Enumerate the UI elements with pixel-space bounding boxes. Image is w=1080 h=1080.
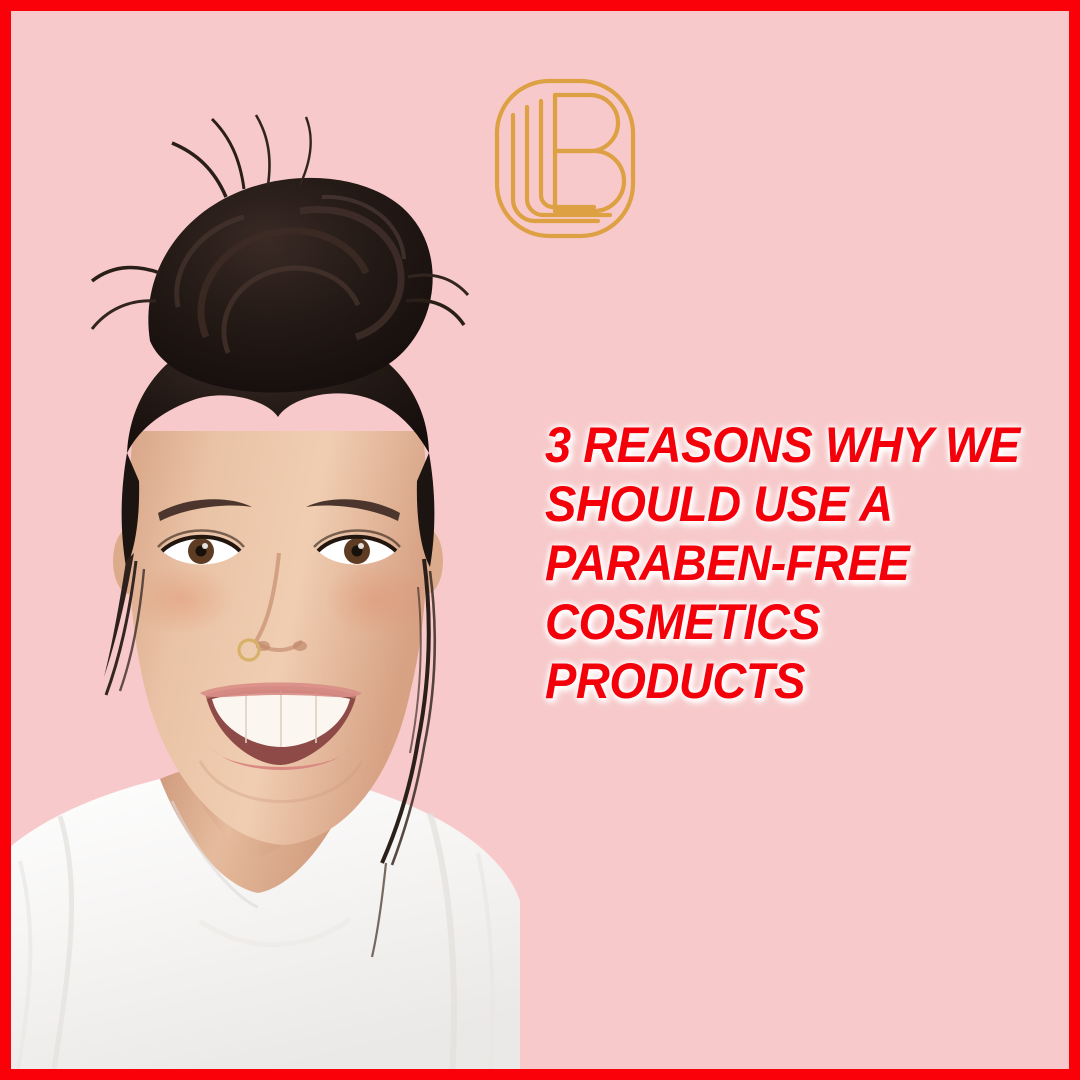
poster-canvas: 3 REASONS WHY WE SHOULD USE A PARABEN-FR… <box>11 11 1069 1069</box>
woman-portrait <box>11 101 560 1069</box>
headline-line-2: SHOULD USE A <box>545 475 1034 534</box>
headline-line-5: PRODUCTS <box>545 652 1034 711</box>
headline-line-4: COSMETICS <box>545 593 1034 652</box>
poster: 3 REASONS WHY WE SHOULD USE A PARABEN-FR… <box>0 0 1080 1080</box>
headline-line-3: PARABEN-FREE <box>545 534 1034 593</box>
lb-monogram-logo <box>486 71 644 246</box>
headline-line-1: 3 REASONS WHY WE <box>545 416 1034 475</box>
headline: 3 REASONS WHY WE SHOULD USE A PARABEN-FR… <box>545 416 1065 711</box>
